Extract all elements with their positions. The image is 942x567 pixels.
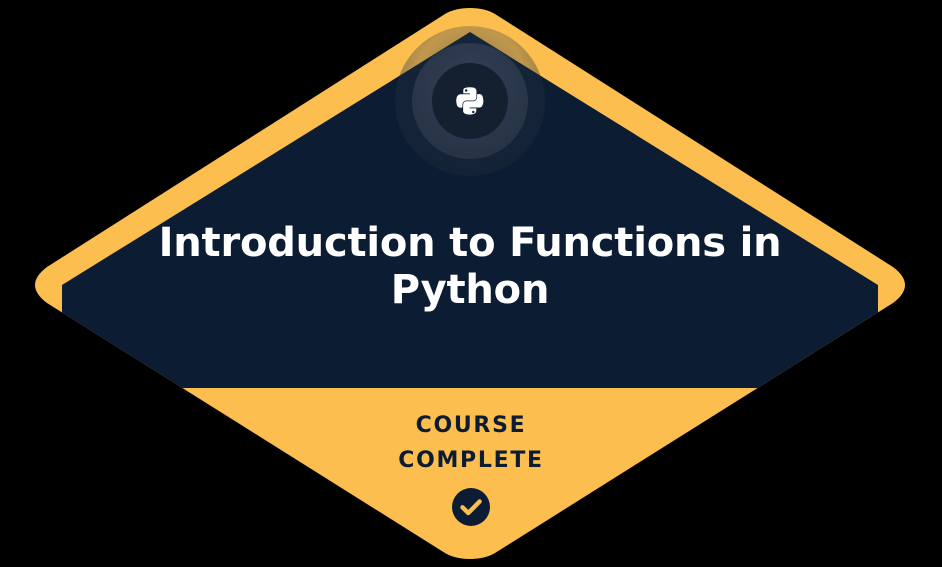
title-line-2: Python	[391, 267, 550, 313]
status-badge: COURSE COMPLETE	[221, 408, 721, 527]
status-line-course: COURSE	[221, 408, 721, 443]
check-circle-icon	[451, 487, 491, 527]
status-line-complete: COMPLETE	[221, 443, 721, 478]
check-icon-wrapper	[221, 487, 721, 527]
badge-stage: Introduction to Functions in Python COUR…	[0, 0, 942, 567]
logo-ring-inner	[432, 63, 508, 139]
title-line-1: Introduction to Functions in	[159, 220, 782, 266]
page-title: Introduction to Functions in Python	[155, 220, 785, 314]
